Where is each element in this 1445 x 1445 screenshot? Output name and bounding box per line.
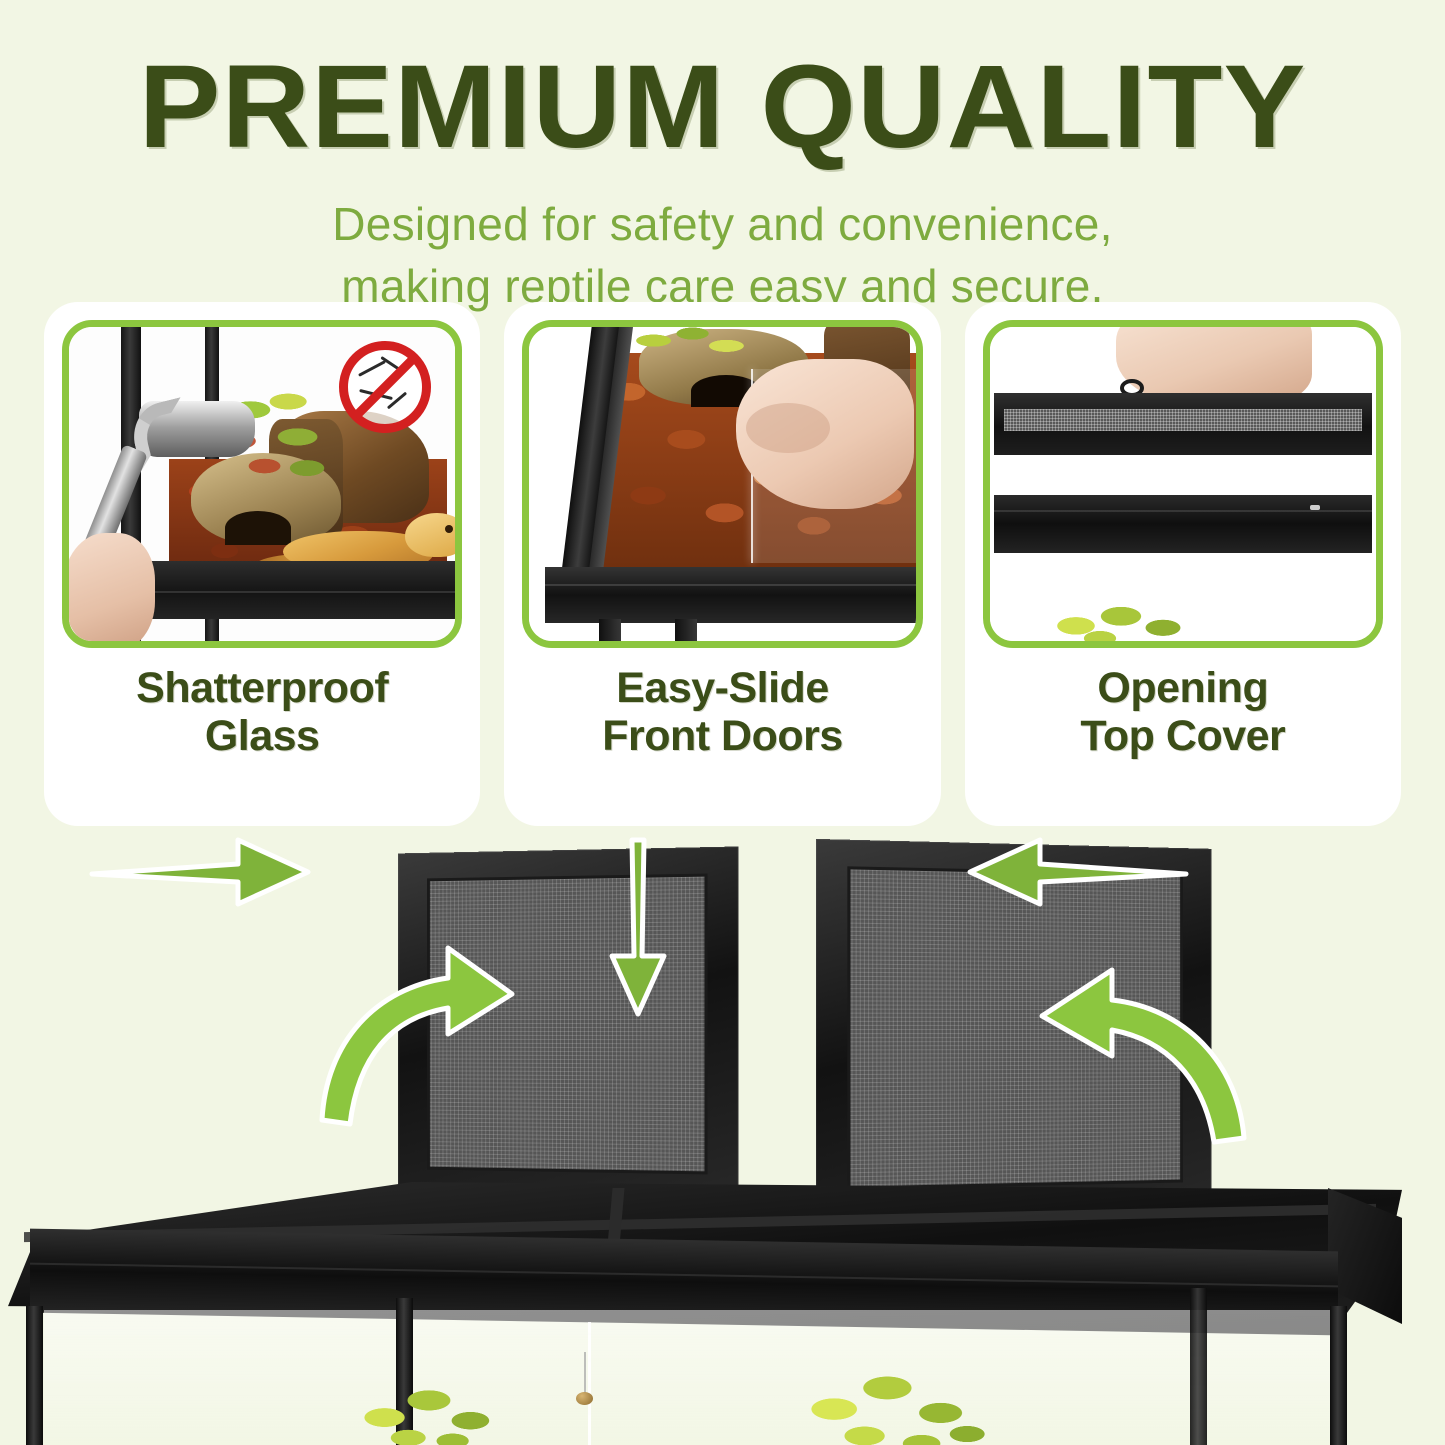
- top-cover-right-close-arrow: [1032, 946, 1252, 1146]
- feature-label-line-2: Top Cover: [1080, 712, 1285, 760]
- header: PREMIUM QUALITY Designed for safety and …: [0, 0, 1445, 317]
- front-door-open-down-arrow: [606, 836, 670, 1018]
- plant-decor: [625, 323, 755, 367]
- feature-card-label: Shatterproof Glass: [136, 664, 388, 760]
- page-subtitle: Designed for safety and convenience, mak…: [0, 194, 1445, 317]
- feature-card-opening-top-cover: Opening Top Cover: [965, 302, 1401, 826]
- tank-base-rail: [545, 567, 915, 623]
- feature-card-easy-slide-front-doors: Easy-Slide Front Doors: [504, 302, 940, 826]
- mesh-screen: [1004, 409, 1362, 431]
- tank-leg: [675, 619, 697, 645]
- plant-decor: [352, 1377, 500, 1445]
- feature-label-line-1: Opening: [1080, 664, 1285, 712]
- page-title: PREMIUM QUALITY: [0, 46, 1445, 170]
- feature-label-line-2: Front Doors: [602, 712, 843, 760]
- glass-front-panel: [44, 1310, 1330, 1445]
- no-crack-prohibition-icon: [339, 341, 431, 433]
- subtitle-line-1: Designed for safety and convenience,: [0, 194, 1445, 256]
- tank-post: [1190, 1288, 1207, 1445]
- front-door-left-slide-arrow: [88, 836, 312, 908]
- door-knob-icon: [576, 1392, 593, 1405]
- hand: [63, 533, 155, 648]
- feature-label-line-1: Shatterproof: [136, 664, 388, 712]
- shatterproof-glass-photo: [62, 320, 462, 648]
- tank-post: [1330, 1306, 1347, 1445]
- tank-top-rail: [994, 495, 1372, 553]
- product-photo: [0, 836, 1445, 1445]
- feature-label-line-1: Easy-Slide: [602, 664, 843, 712]
- top-cover-left-close-arrow: [316, 922, 526, 1132]
- plant-decor: [800, 1363, 990, 1445]
- tank-leg: [599, 619, 621, 645]
- feature-card-label: Opening Top Cover: [1080, 664, 1285, 760]
- front-door-right-slide-arrow: [962, 836, 1190, 908]
- sliding-door-seam: [588, 1322, 591, 1445]
- feature-card-shatterproof-glass: Shatterproof Glass: [44, 302, 480, 826]
- door-latch-wire: [584, 1352, 586, 1394]
- opening-top-cover-photo: [983, 320, 1383, 648]
- easy-slide-front-doors-photo: [522, 320, 922, 648]
- feature-label-line-2: Glass: [136, 712, 388, 760]
- mesh-top-cover: [994, 393, 1372, 455]
- tank-post: [26, 1306, 43, 1445]
- rail-highlight: [1310, 505, 1320, 510]
- feature-card-label: Easy-Slide Front Doors: [602, 664, 843, 760]
- plant-decor: [1046, 599, 1196, 647]
- feature-card-list: Shatterproof Glass Easy-Slide Front Door…: [44, 302, 1401, 826]
